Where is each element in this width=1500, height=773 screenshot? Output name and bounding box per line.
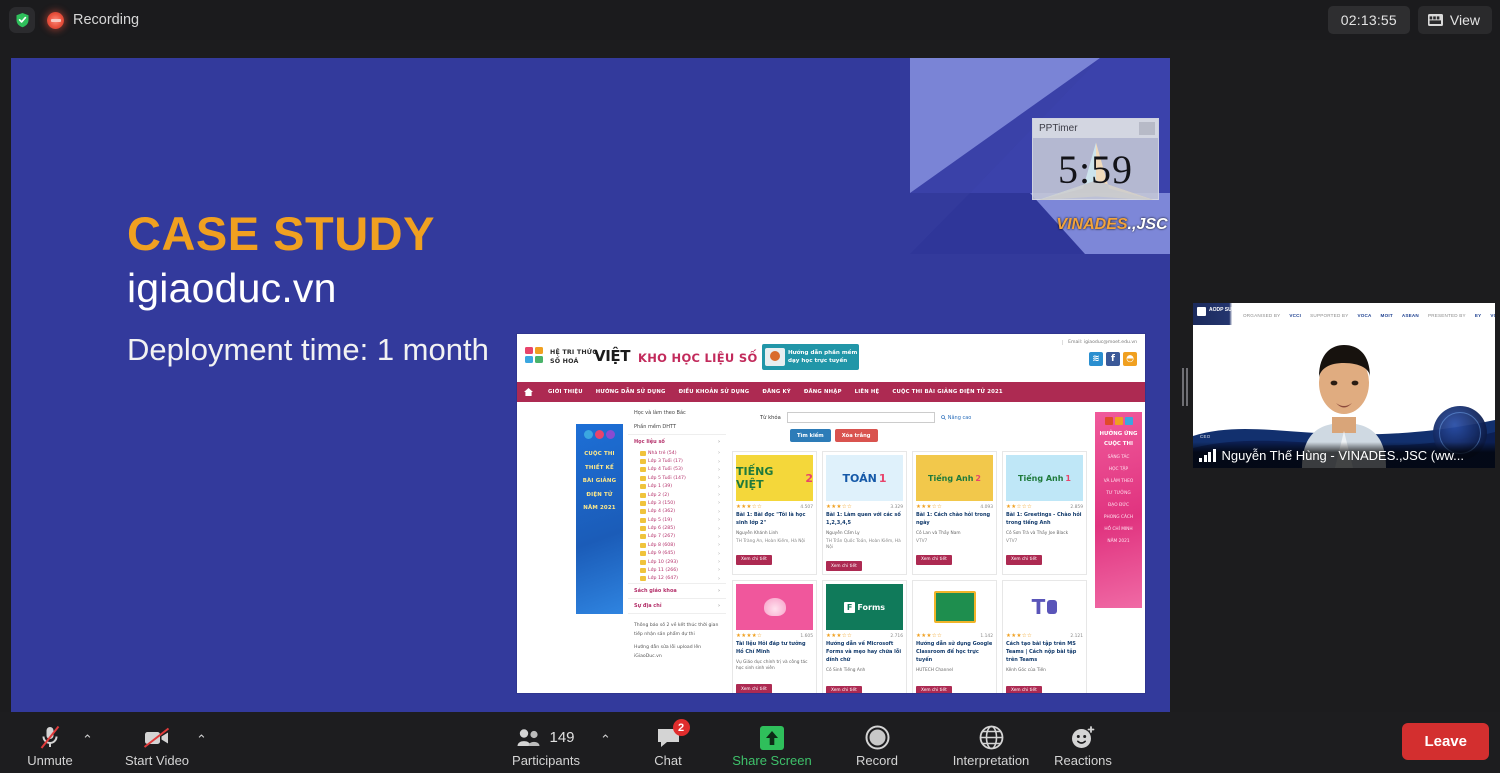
- course-card[interactable]: FForms ★★★☆☆2.716 Hướng dẫn về Microsoft…: [822, 580, 907, 693]
- sidebar-link-row[interactable]: Sự địa chỉ›: [628, 598, 726, 613]
- panel-splitter-handle[interactable]: [1181, 366, 1188, 408]
- pptimer-minimize-button[interactable]: [1139, 122, 1155, 135]
- contest-banner-left[interactable]: CUỘC THI THIẾT KẾ BÀI GIẢNG ĐIỆN TỬ NĂM …: [576, 424, 623, 614]
- sidebar-link[interactable]: Phần mềm DHTT: [628, 420, 726, 434]
- rating-stars: ★★★☆☆: [826, 504, 852, 510]
- embedded-website-screenshot: HỆ TRI THỨCSỐ HOÁ VIỆT KHO HỌC LIỆU SỐ H…: [517, 334, 1145, 693]
- rating-stars: ★★★☆☆: [916, 633, 942, 639]
- presentation-slide: CASE STUDY igiaoduc.vn Deployment time: …: [11, 58, 1170, 712]
- banner-line: ĐẠO ĐỨC: [1097, 501, 1140, 510]
- site-main-content: Từ khóa Nâng cao Tìm kiếm Xóa trắng: [726, 402, 1093, 693]
- rating-stars: ★★☆☆☆: [1006, 504, 1032, 510]
- sidebar-tree: Nhà trẻ (54)› Lớp 3 Tuổi (17)› Lớp 4 Tuổ…: [628, 449, 726, 583]
- site-header: HỆ TRI THỨCSỐ HOÁ VIỆT KHO HỌC LIỆU SỐ H…: [517, 334, 1145, 382]
- banner-title: CUỘC THI: [1097, 439, 1140, 449]
- signal-bars-icon: [1199, 449, 1216, 462]
- site-brand-sub: HỆ TRI THỨCSỐ HOÁ: [550, 348, 597, 366]
- video-sponsor-strip: AODP SUMMIT ORGANISED BY VCCI SUPPORTED …: [1193, 303, 1495, 325]
- nav-item[interactable]: LIÊN HỆ: [855, 389, 880, 395]
- lower-third-role: CEO: [1200, 434, 1210, 439]
- video-name-bar: Nguyễn Thế Hùng - VINADES.,JSC (ww...: [1193, 442, 1495, 468]
- chat-unread-badge: 2: [673, 719, 690, 736]
- nav-item[interactable]: ĐĂNG NHẬP: [804, 389, 842, 395]
- search-icon: [941, 415, 946, 420]
- recording-indicator[interactable]: Recording: [47, 12, 139, 29]
- tree-item[interactable]: Lớp 2 (2)›: [628, 491, 726, 499]
- shared-screen-stage[interactable]: CASE STUDY igiaoduc.vn Deployment time: …: [11, 58, 1170, 712]
- banner-line: NĂM 2021: [578, 502, 621, 516]
- record-button[interactable]: Record: [834, 724, 920, 768]
- site-body: CUỘC THI THIẾT KẾ BÀI GIẢNG ĐIỆN TỬ NĂM …: [517, 402, 1145, 693]
- banner-title: HƯỞNG ỨNG: [1097, 429, 1140, 439]
- aodp-brand: AODP SUMMIT: [1209, 307, 1244, 314]
- site-navigation[interactable]: GIỚI THIỆU HƯỚNG DẪN SỬ DỤNG ĐIỀU KHOẢN …: [517, 382, 1145, 402]
- course-author: Nguyễn Cẩm Ly: [826, 531, 903, 537]
- course-author: Cô Sơn Trà và Thầy Joe Black: [1006, 531, 1083, 537]
- tree-item[interactable]: Lớp 3 (150)›: [628, 499, 726, 507]
- course-org: VTV7: [916, 539, 993, 545]
- recording-dot-icon: [47, 12, 64, 29]
- course-thumbnail: [916, 584, 993, 630]
- course-title: Bài 1: Cách chào hỏi trong ngày: [916, 512, 993, 528]
- sidebar-notices: Thông báo số 2 về kết thúc thời gian tiế…: [628, 613, 726, 670]
- aodp-logo-icon: [1197, 307, 1206, 316]
- home-icon[interactable]: [522, 386, 535, 398]
- tree-item[interactable]: Lớp 10 (293)›: [628, 558, 726, 566]
- view-count: 4.507: [800, 505, 813, 510]
- chat-label: Chat: [654, 753, 681, 768]
- nav-item[interactable]: CUỘC THI BÀI GIẢNG ĐIỆN TỬ 2021: [892, 389, 1002, 395]
- course-card[interactable]: Tiếng Anh1 ★★☆☆☆2.859 Bài 1: Greetings -…: [1002, 451, 1087, 575]
- tree-item[interactable]: Nhà trẻ (54)›: [628, 449, 726, 457]
- view-count: 2.121: [1070, 634, 1083, 639]
- course-org: VTV7: [1006, 539, 1083, 545]
- site-header-banner[interactable]: Hướng dẫn phần mềmdạy học trực tuyến: [762, 344, 859, 370]
- site-brand-viet: VIỆT: [594, 347, 630, 365]
- facebook-icon[interactable]: f: [1106, 352, 1120, 366]
- reactions-smiley-icon: [1070, 724, 1096, 751]
- share-screen-icon: [759, 724, 785, 751]
- reactions-label: Reactions: [1054, 753, 1112, 768]
- zoom-meeting-window: Recording 02:13:55 View CAS: [0, 0, 1500, 773]
- course-author: Nguyễn Khánh Linh: [736, 531, 813, 537]
- course-card[interactable]: ★★★☆☆1.142 Hướng dẫn sử dụng Google Clas…: [912, 580, 997, 693]
- start-video-label: Start Video: [125, 753, 189, 768]
- course-author: HUTECH Channel: [916, 668, 993, 674]
- tree-item[interactable]: Lớp 8 (608)›: [628, 541, 726, 549]
- pptimer-titlebar: PPTimer: [1033, 119, 1158, 138]
- view-count: 2.716: [890, 634, 903, 639]
- record-circle-icon: [865, 724, 890, 751]
- course-thumbnail: [736, 584, 813, 630]
- site-sidebar: Học và làm theo Bác Phần mềm DHTT Học li…: [628, 402, 726, 693]
- course-detail-button[interactable]: Xem chi tiết: [916, 686, 952, 694]
- tree-item[interactable]: Lớp 5 Tuổi (147)›: [628, 474, 726, 482]
- participant-video-tile[interactable]: AODP SUMMIT ORGANISED BY VCCI SUPPORTED …: [1193, 303, 1495, 468]
- course-thumbnail: FForms: [826, 584, 903, 630]
- site-title: KHO HỌC LIỆU SỐ: [638, 351, 758, 365]
- sidebar-link[interactable]: Học và làm theo Bác: [628, 406, 726, 420]
- nav-item[interactable]: HƯỚNG DẪN SỬ DỤNG: [596, 389, 666, 395]
- top-status-bar: Recording 02:13:55 View: [0, 0, 1500, 40]
- banner-line: HỒ CHÍ MINH: [1097, 525, 1140, 534]
- view-count: 4.093: [980, 505, 993, 510]
- tree-item[interactable]: Lớp 3 Tuổi (17)›: [628, 457, 726, 465]
- banner-seals: [578, 430, 621, 439]
- notice-item[interactable]: Hướng dẫn sửa lỗi upload lên iGiaoDuc.vn: [634, 644, 720, 661]
- pptimer-title: PPTimer: [1036, 123, 1078, 134]
- leave-button[interactable]: Leave: [1402, 723, 1489, 760]
- lower-third-name: MR. NGUYEN THE HUNG: [1200, 421, 1270, 431]
- participants-caret[interactable]: ⌃: [600, 732, 611, 748]
- vinades-suffix: .,JSC: [1128, 216, 1168, 233]
- course-thumbnail: T: [1006, 584, 1083, 630]
- share-screen-button[interactable]: Share Screen: [729, 724, 815, 768]
- course-org: TH Tràng An, Hoàn Kiếm, Hà Nội: [736, 539, 813, 545]
- course-card[interactable]: Tiếng Anh2 ★★★☆☆4.093 Bài 1: Cách chào h…: [912, 451, 997, 575]
- rss-icon[interactable]: ≋: [1089, 352, 1103, 366]
- tree-item[interactable]: Lớp 7 (267)›: [628, 533, 726, 541]
- rating-stars: ★★★☆☆: [916, 504, 942, 510]
- course-thumbnail: TOÁN1: [826, 455, 903, 501]
- participants-button[interactable]: 149 Participants: [501, 724, 591, 768]
- tree-item[interactable]: Lớp 4 (362)›: [628, 508, 726, 516]
- advanced-search-link[interactable]: Nâng cao: [941, 415, 972, 421]
- course-card[interactable]: TOÁN1 ★★★☆☆3.329 Bài 1: Làm quen với các…: [822, 451, 907, 575]
- tree-item[interactable]: Lớp 11 (266)›: [628, 566, 726, 574]
- pptimer-face: 5:59: [1033, 138, 1158, 200]
- course-author: Cô Lan và Thầy Nam: [916, 531, 993, 537]
- view-label: View: [1450, 12, 1480, 28]
- top-bar-right-group: 02:13:55 View: [1328, 6, 1492, 34]
- course-card[interactable]: T ★★★☆☆2.121 Cách tạo bài tập trên MS Te…: [1002, 580, 1087, 693]
- search-label: Từ khóa: [760, 415, 781, 421]
- course-detail-button[interactable]: Xem chi tiết: [916, 555, 952, 565]
- tree-item[interactable]: Lớp 4 Tuổi (53)›: [628, 466, 726, 474]
- participants-count: 149: [549, 729, 574, 746]
- site-search-row: Từ khóa Nâng cao: [730, 406, 1089, 425]
- video-lower-third: MR. NGUYEN THE HUNG CEO: [1200, 421, 1270, 442]
- banner-line: NĂM 2021: [1097, 537, 1140, 546]
- audio-options-caret[interactable]: ⌃: [82, 732, 93, 748]
- share-screen-label: Share Screen: [732, 753, 812, 768]
- banner-line: VÀ LÀM THEO: [1097, 477, 1140, 486]
- grid-view-icon: [1428, 14, 1443, 26]
- banner-line: PHONG CÁCH: [1097, 513, 1140, 522]
- banner-line: SÁNG TÁC: [1097, 453, 1140, 462]
- course-card[interactable]: ★★★★☆1.605 Tài liệu Hỏi đáp tư tưởng Hồ …: [732, 580, 817, 693]
- course-title: Cách tạo bài tập trên MS Teams | Cách nộ…: [1006, 641, 1083, 664]
- view-count: 3.329: [890, 505, 903, 510]
- course-author: Kênh Góc của Tiến: [1006, 668, 1083, 674]
- search-input[interactable]: [787, 412, 935, 423]
- tree-item[interactable]: Lớp 5 (19)›: [628, 516, 726, 524]
- camera-muted-icon: [143, 724, 171, 751]
- slide-subtitle: igiaoduc.vn: [127, 265, 337, 312]
- banner-line: CUỘC THI: [578, 448, 621, 462]
- course-detail-button[interactable]: Xem chi tiết: [826, 686, 862, 694]
- course-detail-button[interactable]: Xem chi tiết: [826, 561, 862, 571]
- banner-line: HỌC TẬP: [1097, 465, 1140, 474]
- participants-icon: [517, 728, 543, 747]
- vinades-brand: VINADES: [1056, 216, 1127, 233]
- site-search-buttons: Tìm kiếm Xóa trắng: [730, 425, 1089, 448]
- meeting-toolbar: Unmute ⌃ Start Video ⌃ 149 Participants …: [0, 712, 1500, 773]
- sidebar-tree-header[interactable]: Học liệu số›: [628, 434, 726, 449]
- course-thumbnail: Tiếng Anh1: [1006, 455, 1083, 501]
- globe-icon: [979, 724, 1004, 751]
- slide-title: CASE STUDY: [127, 206, 435, 261]
- course-author: Cô Sinh Tiếng Anh: [826, 668, 903, 674]
- course-org: TH Trần Quốc Toản, Hoàn Kiếm, Hà Nội: [826, 539, 903, 552]
- banner-icon: [765, 348, 785, 366]
- meeting-timer: 02:13:55: [1328, 6, 1410, 34]
- course-detail-button[interactable]: Xem chi tiết: [1006, 555, 1042, 565]
- search-submit-button[interactable]: Tìm kiếm: [790, 429, 831, 442]
- participant-name: Nguyễn Thế Hùng - VINADES.,JSC (ww...: [1222, 448, 1465, 463]
- interpretation-label: Interpretation: [953, 753, 1030, 768]
- view-count: 1.605: [800, 634, 813, 639]
- notice-item[interactable]: Thông báo số 2 về kết thúc thời gian tiế…: [634, 622, 720, 639]
- video-options-caret[interactable]: ⌃: [196, 732, 207, 748]
- microphone-muted-icon: [39, 724, 61, 751]
- banner-line: BÀI GIẢNG: [578, 475, 621, 489]
- start-video-button[interactable]: Start Video: [114, 724, 200, 768]
- site-email: Email: igiaoduc@moet.edu.vn: [1062, 340, 1137, 345]
- course-thumbnail: TIẾNG VIỆT2: [736, 455, 813, 501]
- course-card[interactable]: TIẾNG VIỆT2 ★★★☆☆4.507 Bài 1: Bài đọc "T…: [732, 451, 817, 575]
- chat-bubble-icon: 2: [656, 724, 681, 751]
- site-social-links[interactable]: ≋ f ◓: [1089, 352, 1137, 366]
- course-card-grid: TIẾNG VIỆT2 ★★★☆☆4.507 Bài 1: Bài đọc "T…: [730, 448, 1089, 693]
- banner-text: Hướng dẫn phần mềmdạy học trực tuyến: [788, 349, 857, 366]
- banner-line: TƯ TƯỞNG: [1097, 489, 1140, 498]
- tree-item[interactable]: Lớp 1 (39)›: [628, 483, 726, 491]
- chat-button[interactable]: 2 Chat: [625, 724, 711, 768]
- banner-seals: [1097, 417, 1140, 425]
- unmute-button[interactable]: Unmute: [7, 724, 93, 768]
- pptimer-time: 5:59: [1033, 138, 1158, 200]
- view-count: 2.859: [1070, 505, 1083, 510]
- sponsor-logos: ORGANISED BY VCCI SUPPORTED BY VOCA MOIT…: [1243, 309, 1491, 321]
- course-title: Hướng dẫn sử dụng Google Classroom để họ…: [916, 641, 993, 664]
- pptimer-widget[interactable]: PPTimer 5:59: [1032, 118, 1159, 200]
- unmute-label: Unmute: [27, 753, 73, 768]
- course-author: Vụ Giáo dục chính trị và công tác học si…: [736, 660, 813, 673]
- participants-label: Participants: [512, 753, 580, 768]
- contest-banner-right[interactable]: HƯỞNG ỨNG CUỘC THI SÁNG TÁC HỌC TẬP VÀ L…: [1095, 412, 1142, 608]
- vinades-logo: VINADES.,JSC: [1056, 216, 1168, 234]
- reactions-button[interactable]: Reactions: [1040, 724, 1126, 768]
- rating-stars: ★★★☆☆: [1006, 633, 1032, 639]
- course-title: Bài 1: Greetings - Chào hỏi trong tiếng …: [1006, 512, 1083, 528]
- record-label: Record: [856, 753, 898, 768]
- recording-label: Recording: [73, 12, 139, 28]
- shield-check-icon[interactable]: [9, 7, 35, 33]
- course-title: Hướng dẫn về Microsoft Forms và mẹo hay …: [826, 641, 903, 664]
- slide-note: Deployment time: 1 month: [127, 332, 489, 368]
- view-count: 1.142: [980, 634, 993, 639]
- rating-stars: ★★★★☆: [736, 633, 762, 639]
- course-thumbnail: Tiếng Anh2: [916, 455, 993, 501]
- course-title: Bài 1: Bài đọc "Tôi là học sinh lớp 2": [736, 512, 813, 528]
- nav-item[interactable]: GIỚI THIỆU: [548, 389, 583, 395]
- sidebar-link-row[interactable]: Sách giáo khoa›: [628, 583, 726, 598]
- nav-item[interactable]: ĐIỀU KHOẢN SỬ DỤNG: [679, 389, 750, 395]
- banner-line: THIẾT KẾ: [578, 462, 621, 476]
- nav-item[interactable]: ĐĂNG KÝ: [762, 389, 791, 395]
- hetrithuc-logo-icon: [525, 347, 547, 365]
- tree-item[interactable]: Lớp 12 (647)›: [628, 575, 726, 583]
- tree-item[interactable]: Lớp 6 (285)›: [628, 524, 726, 532]
- bell-icon[interactable]: ◓: [1123, 352, 1137, 366]
- search-reset-button[interactable]: Xóa trắng: [835, 429, 878, 442]
- course-detail-button[interactable]: Xem chi tiết: [1006, 686, 1042, 694]
- view-button[interactable]: View: [1418, 6, 1492, 34]
- course-title: Tài liệu Hỏi đáp tư tưởng Hồ Chí Minh: [736, 641, 813, 657]
- course-title: Bài 1: Làm quen với các số 1,2,3,4,5: [826, 512, 903, 528]
- banner-line: ĐIỆN TỬ: [578, 489, 621, 503]
- tree-item[interactable]: Lớp 9 (645)›: [628, 550, 726, 558]
- interpretation-button[interactable]: Interpretation: [936, 724, 1046, 768]
- participants-icon-group: 149: [517, 724, 574, 751]
- course-detail-button[interactable]: Xem chi tiết: [736, 555, 772, 565]
- rating-stars: ★★★☆☆: [826, 633, 852, 639]
- course-detail-button[interactable]: Xem chi tiết: [736, 684, 772, 693]
- rating-stars: ★★★☆☆: [736, 504, 762, 510]
